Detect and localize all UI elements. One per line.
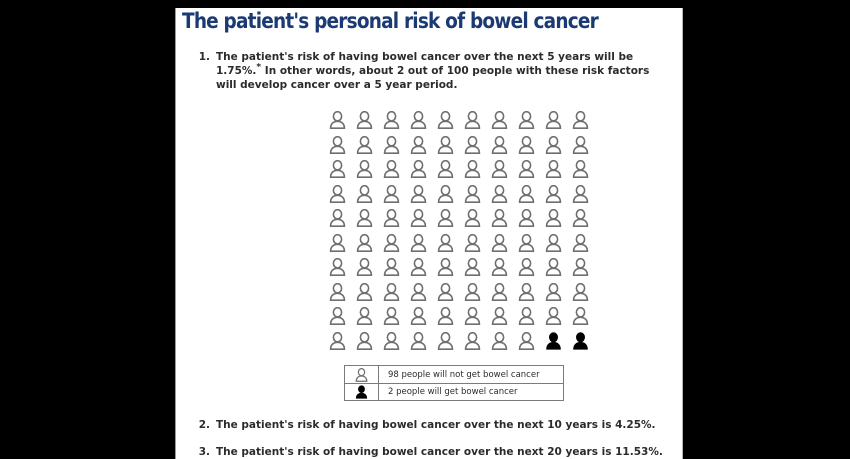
page-title: The patient's personal risk of bowel can…	[182, 9, 598, 33]
person-outline-icon	[378, 329, 405, 354]
person-outline-icon	[351, 329, 378, 354]
person-outline-icon	[513, 255, 540, 280]
person-outline-icon	[540, 108, 567, 133]
person-outline-icon	[378, 231, 405, 256]
person-outline-icon	[513, 182, 540, 207]
person-outline-icon	[540, 280, 567, 305]
legend-row-affected: 2 people will get bowel cancer	[345, 383, 563, 400]
person-outline-icon	[567, 231, 594, 256]
risk-explanation-5-year: In other words, about 2 out of 100 peopl…	[216, 65, 649, 91]
person-outline-icon	[540, 231, 567, 256]
list-item-number: 1.	[192, 50, 210, 64]
person-outline-icon	[459, 280, 486, 305]
person-outline-icon	[324, 133, 351, 158]
list-item-number: 3.	[192, 445, 210, 459]
risk-statement-20-year: The patient's risk of having bowel cance…	[216, 445, 670, 459]
person-outline-icon	[432, 182, 459, 207]
person-outline-icon	[405, 157, 432, 182]
person-outline-icon	[324, 231, 351, 256]
person-outline-icon	[486, 304, 513, 329]
person-outline-icon	[486, 255, 513, 280]
list-item: 3. The patient's risk of having bowel ca…	[192, 445, 670, 459]
person-outline-icon	[486, 133, 513, 158]
person-outline-icon	[567, 304, 594, 329]
person-outline-icon	[378, 182, 405, 207]
person-outline-icon	[324, 206, 351, 231]
person-outline-icon	[432, 255, 459, 280]
person-outline-icon	[540, 304, 567, 329]
person-outline-icon	[351, 182, 378, 207]
icon-array-grid	[324, 108, 594, 353]
person-outline-icon	[405, 182, 432, 207]
person-outline-icon	[486, 206, 513, 231]
person-outline-icon	[351, 304, 378, 329]
legend-label-unaffected: 98 people will not get bowel cancer	[379, 370, 540, 380]
person-outline-icon	[432, 304, 459, 329]
person-outline-icon	[567, 108, 594, 133]
person-outline-icon	[432, 206, 459, 231]
list-item-text: The patient's risk of having bowel cance…	[216, 50, 670, 92]
person-outline-icon	[567, 280, 594, 305]
person-outline-icon	[459, 108, 486, 133]
person-outline-icon	[513, 206, 540, 231]
person-outline-icon	[324, 280, 351, 305]
person-outline-icon	[432, 280, 459, 305]
person-outline-icon	[351, 255, 378, 280]
person-outline-icon	[405, 231, 432, 256]
legend: 98 people will not get bowel cancer 2 pe…	[344, 365, 564, 401]
risk-statement-10-year: The patient's risk of having bowel cance…	[216, 418, 670, 432]
person-outline-icon	[513, 329, 540, 354]
person-outline-icon	[486, 157, 513, 182]
person-outline-icon	[459, 206, 486, 231]
person-outline-icon	[567, 255, 594, 280]
person-filled-icon	[345, 384, 379, 400]
person-outline-icon	[540, 133, 567, 158]
person-outline-icon	[378, 255, 405, 280]
title-bar: The patient's personal risk of bowel can…	[176, 8, 683, 38]
person-outline-icon	[567, 157, 594, 182]
person-filled-icon	[567, 329, 594, 354]
person-outline-icon	[567, 182, 594, 207]
person-outline-icon	[432, 108, 459, 133]
person-outline-icon	[513, 304, 540, 329]
person-outline-icon	[432, 231, 459, 256]
person-outline-icon	[405, 304, 432, 329]
person-outline-icon	[405, 108, 432, 133]
screenshot-root: The patient's personal risk of bowel can…	[0, 0, 850, 459]
person-outline-icon	[459, 133, 486, 158]
person-outline-icon	[351, 108, 378, 133]
person-outline-icon	[405, 329, 432, 354]
person-outline-icon	[486, 108, 513, 133]
person-outline-icon	[432, 157, 459, 182]
person-outline-icon	[351, 206, 378, 231]
person-outline-icon	[513, 157, 540, 182]
person-outline-icon	[432, 329, 459, 354]
person-outline-icon	[459, 182, 486, 207]
person-outline-icon	[324, 329, 351, 354]
legend-row-unaffected: 98 people will not get bowel cancer	[345, 366, 563, 383]
person-outline-icon	[324, 255, 351, 280]
person-outline-icon	[405, 255, 432, 280]
person-outline-icon	[459, 231, 486, 256]
person-outline-icon	[378, 304, 405, 329]
person-outline-icon	[378, 280, 405, 305]
list-item: 1. The patient's risk of having bowel ca…	[192, 50, 670, 92]
person-outline-icon	[540, 255, 567, 280]
person-outline-icon	[459, 304, 486, 329]
person-outline-icon	[324, 108, 351, 133]
person-outline-icon	[345, 366, 379, 383]
person-outline-icon	[486, 182, 513, 207]
person-outline-icon	[351, 157, 378, 182]
person-outline-icon	[567, 206, 594, 231]
person-outline-icon	[459, 157, 486, 182]
list-item: 2. The patient's risk of having bowel ca…	[192, 418, 670, 432]
person-outline-icon	[324, 182, 351, 207]
person-outline-icon	[459, 329, 486, 354]
person-outline-icon	[486, 329, 513, 354]
legend-label-affected: 2 people will get bowel cancer	[379, 387, 518, 397]
person-outline-icon	[351, 231, 378, 256]
person-outline-icon	[513, 280, 540, 305]
person-outline-icon	[405, 206, 432, 231]
person-outline-icon	[351, 133, 378, 158]
person-outline-icon	[378, 157, 405, 182]
person-outline-icon	[378, 133, 405, 158]
person-outline-icon	[405, 133, 432, 158]
person-outline-icon	[486, 280, 513, 305]
person-outline-icon	[324, 304, 351, 329]
person-outline-icon	[378, 108, 405, 133]
person-outline-icon	[378, 206, 405, 231]
document-page: The patient's personal risk of bowel can…	[175, 8, 683, 459]
list-item-number: 2.	[192, 418, 210, 432]
person-outline-icon	[459, 255, 486, 280]
person-outline-icon	[567, 133, 594, 158]
person-outline-icon	[513, 108, 540, 133]
person-outline-icon	[351, 280, 378, 305]
person-outline-icon	[540, 206, 567, 231]
person-outline-icon	[540, 157, 567, 182]
person-outline-icon	[405, 280, 432, 305]
person-outline-icon	[540, 182, 567, 207]
person-outline-icon	[513, 231, 540, 256]
person-filled-icon	[540, 329, 567, 354]
person-outline-icon	[432, 133, 459, 158]
person-outline-icon	[324, 157, 351, 182]
person-outline-icon	[513, 133, 540, 158]
person-outline-icon	[486, 231, 513, 256]
